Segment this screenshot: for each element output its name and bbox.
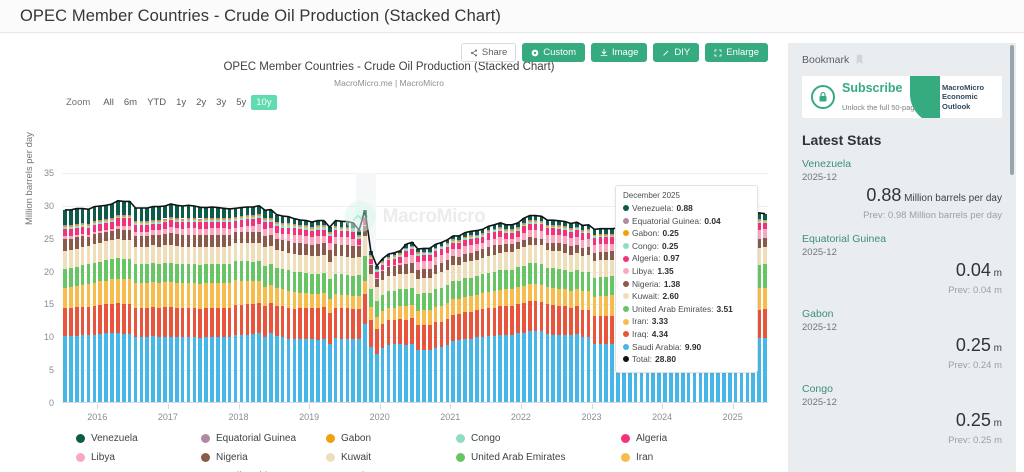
gear-icon <box>531 49 539 57</box>
tooltip-color-dot <box>623 319 629 325</box>
legend-color-dot <box>76 434 85 443</box>
stat-date: 2025-12 <box>802 396 1002 409</box>
legend-item-libya[interactable]: Libya <box>76 452 201 463</box>
legend-item-equatorial-guinea[interactable]: Equatorial Guinea <box>201 433 326 444</box>
x-tick-label: 2022 <box>511 412 531 422</box>
brand-name: MacroMicro Economic Outlook <box>942 83 1002 112</box>
tooltip-color-dot <box>623 293 629 299</box>
latest-stats-list: Venezuela2025-120.88 Million barrels per… <box>802 158 1002 447</box>
stat-unit: m <box>991 343 1002 354</box>
share-button[interactable]: Share <box>461 43 516 62</box>
stat-block: Gabon2025-120.25 mPrev: 0.24 m <box>802 308 1002 372</box>
x-tick-label: 2024 <box>652 412 672 422</box>
tooltip-row: Nigeria:1.38 <box>623 278 750 291</box>
legend-item-iran[interactable]: Iran <box>621 452 711 463</box>
x-tick-mark <box>380 404 381 409</box>
tooltip-series-label: Iraq: <box>632 328 649 341</box>
legend-item-label: Venezuela <box>91 433 138 444</box>
stat-value: 0.25 <box>956 410 991 430</box>
stat-date: 2025-12 <box>802 246 1002 259</box>
legend-item-algeria[interactable]: Algeria <box>621 433 711 444</box>
zoom-option-ytd[interactable]: YTD <box>142 95 171 110</box>
subscribe-banner[interactable]: Subscribe Unlock the full 50-page report… <box>802 76 1002 118</box>
y-tick-label: 35 <box>44 168 54 178</box>
diy-label: DIY <box>674 48 690 58</box>
chart-title: OPEC Member Countries - Crude Oil Produc… <box>0 61 778 73</box>
stat-previous-value: Prev: 0.25 m <box>802 434 1002 447</box>
x-tick-mark <box>662 404 663 409</box>
legend-color-dot <box>456 434 465 443</box>
zoom-option-3y[interactable]: 3y <box>211 95 231 110</box>
enlarge-label: Enlarge <box>726 48 759 58</box>
sidebar-scrollbar-thumb[interactable] <box>1010 45 1014 175</box>
sidebar: Bookmark Subscribe Unlock the full 50-pa… <box>778 33 1024 472</box>
tooltip-series-value: 4.34 <box>652 328 668 341</box>
legend-item-nigeria[interactable]: Nigeria <box>201 452 326 463</box>
bookmark-button[interactable]: Bookmark <box>802 53 1002 66</box>
page-title: OPEC Member Countries - Crude Oil Produc… <box>20 7 501 26</box>
tooltip-series-value: 0.88 <box>676 202 692 215</box>
tooltip-series-label: Libya: <box>632 265 654 278</box>
y-tick-label: 5 <box>49 365 54 375</box>
tooltip-color-dot <box>623 306 629 312</box>
tooltip-row: Iran:3.33 <box>623 315 750 328</box>
legend-item-united-arab-emirates[interactable]: United Arab Emirates <box>456 452 621 463</box>
zoom-option-2y[interactable]: 2y <box>191 95 211 110</box>
tooltip-series-label: Algeria: <box>632 252 660 265</box>
stat-unit: m <box>991 418 1002 429</box>
bookmark-label: Bookmark <box>802 54 849 66</box>
zoom-buttons: All6mYTD1y2y3y5y10y <box>98 97 276 108</box>
tooltip-series-label: Gabon: <box>632 227 659 240</box>
zoom-option-5y[interactable]: 5y <box>231 95 251 110</box>
tooltip-series-value: 1.38 <box>664 278 680 291</box>
x-tick-label: 2017 <box>158 412 178 422</box>
custom-label: Custom <box>543 48 576 58</box>
legend-item-label: Kuwait <box>341 452 371 463</box>
tooltip-color-dot <box>623 344 629 350</box>
legend-item-label: Algeria <box>636 433 667 444</box>
lock-icon <box>811 85 835 109</box>
tooltip-rows: Venezuela:0.88Equatorial Guinea:0.04Gabo… <box>623 202 750 366</box>
stat-value-row: 0.04 m <box>802 260 1002 284</box>
enlarge-icon <box>714 49 722 57</box>
y-tick-label: 15 <box>44 299 54 309</box>
x-tick-mark <box>592 404 593 409</box>
stat-country-name[interactable]: Congo <box>802 383 1002 396</box>
chart-panel: Share Custom Image DIY <box>0 33 778 472</box>
download-icon <box>600 48 608 57</box>
pencil-icon <box>662 49 670 57</box>
tooltip-row: Saudi Arabia:9.90 <box>623 341 750 354</box>
share-icon <box>470 49 478 57</box>
x-axis: 2016201720182019202020212022202320242025 <box>62 404 768 426</box>
tooltip-color-dot <box>623 331 629 337</box>
legend-color-dot <box>326 434 335 443</box>
tooltip-color-dot <box>623 218 629 224</box>
x-tick-label: 2019 <box>299 412 319 422</box>
legend-item-label: Libya <box>91 452 115 463</box>
bookmark-icon[interactable] <box>854 53 865 66</box>
stat-unit: Million barrels per day <box>901 193 1002 204</box>
image-button[interactable]: Image <box>591 43 647 62</box>
tooltip-row: Equatorial Guinea:0.04 <box>623 215 750 228</box>
stat-previous-value: Prev: 0.24 m <box>802 359 1002 372</box>
stat-block: Venezuela2025-120.88 Million barrels per… <box>802 158 1002 222</box>
legend-item-label: Congo <box>471 433 500 444</box>
stat-block: Congo2025-120.25 mPrev: 0.25 m <box>802 383 1002 447</box>
legend-item-label: Nigeria <box>216 452 248 463</box>
legend-color-dot <box>201 434 210 443</box>
tooltip-series-label: United Arab Emirates: <box>632 303 713 316</box>
tooltip-color-dot <box>623 356 629 362</box>
tooltip-series-label: Equatorial Guinea: <box>632 215 701 228</box>
tooltip-row: Gabon:0.25 <box>623 227 750 240</box>
tooltip-series-value: 0.25 <box>662 240 678 253</box>
x-tick-label: 2023 <box>581 412 601 422</box>
tooltip-series-value: 3.33 <box>652 315 668 328</box>
y-tick-label: 30 <box>44 201 54 211</box>
stat-country-name[interactable]: Equatorial Guinea <box>802 233 1002 246</box>
x-axis-baseline <box>62 402 768 403</box>
stat-date: 2025-12 <box>802 321 1002 334</box>
zoom-option-10y[interactable]: 10y <box>251 95 276 110</box>
y-axis-title: Million barrels per day <box>24 132 35 225</box>
tooltip-color-dot <box>623 256 629 262</box>
tooltip-color-dot <box>623 268 629 274</box>
x-tick-mark <box>733 404 734 409</box>
sidebar-scroll-track[interactable] <box>1011 43 1015 472</box>
x-tick-mark <box>521 404 522 409</box>
stat-value-row: 0.25 m <box>802 410 1002 434</box>
x-tick-label: 2021 <box>440 412 460 422</box>
x-tick-mark <box>239 404 240 409</box>
legend-item-label: Equatorial Guinea <box>216 433 296 444</box>
zoom-range-selector: Zoom All6mYTD1y2y3y5y10y <box>66 97 277 108</box>
tooltip-series-value: 0.25 <box>662 227 678 240</box>
stat-value-row: 0.25 m <box>802 335 1002 359</box>
diy-button[interactable]: DIY <box>653 43 699 62</box>
zoom-option-6m[interactable]: 6m <box>119 95 142 110</box>
stat-value: 0.04 <box>956 260 991 280</box>
legend-color-dot <box>326 453 335 462</box>
tooltip-series-label: Saudi Arabia: <box>632 341 682 354</box>
tooltip-row: United Arab Emirates:3.51 <box>623 303 750 316</box>
sidebar-inner: Bookmark Subscribe Unlock the full 50-pa… <box>788 43 1016 472</box>
stat-value: 0.88 <box>866 185 901 205</box>
body-wrapper: Share Custom Image DIY <box>0 33 1024 472</box>
tooltip-color-dot <box>623 281 629 287</box>
chart-toolbar: Share Custom Image DIY <box>461 43 768 62</box>
stat-country-name[interactable]: Gabon <box>802 308 1002 321</box>
tooltip-series-label: Congo: <box>632 240 659 253</box>
custom-button[interactable]: Custom <box>522 43 585 62</box>
legend-item-label: Iran <box>636 452 653 463</box>
tooltip-series-value: 2.60 <box>662 290 678 303</box>
stat-block: Equatorial Guinea2025-120.04 mPrev: 0.04… <box>802 233 1002 297</box>
stat-unit: m <box>991 268 1002 279</box>
y-tick-label: 20 <box>44 267 54 277</box>
tooltip-row: Kuwait:2.60 <box>623 290 750 303</box>
x-tick-mark <box>450 404 451 409</box>
tooltip-row: Congo:0.25 <box>623 240 750 253</box>
chart-subtitle: MacroMicro.me | MacroMicro <box>0 78 778 88</box>
legend-item-gabon[interactable]: Gabon <box>326 433 456 444</box>
legend-color-dot <box>621 453 630 462</box>
tooltip-series-label: Kuwait: <box>632 290 659 303</box>
legend-item-kuwait[interactable]: Kuwait <box>326 452 456 463</box>
stat-date: 2025-12 <box>802 171 1002 184</box>
legend-item-venezuela[interactable]: Venezuela <box>76 433 201 444</box>
y-tick-label: 0 <box>49 398 54 408</box>
legend-item-congo[interactable]: Congo <box>456 433 621 444</box>
x-tick-mark <box>309 404 310 409</box>
tooltip-row: Libya:1.35 <box>623 265 750 278</box>
subscribe-title: Subscribe <box>842 81 902 95</box>
tooltip-series-value: 9.90 <box>685 341 701 354</box>
zoom-label: Zoom <box>66 97 90 108</box>
x-tick-mark <box>97 404 98 409</box>
tooltip-date: December 2025 <box>623 191 750 200</box>
tooltip-series-value: 28.80 <box>655 353 676 366</box>
tooltip-color-dot <box>623 205 629 211</box>
stat-previous-value: Prev: 0.98 Million barrels per day <box>802 209 1002 222</box>
x-tick-label: 2025 <box>723 412 743 422</box>
legend-color-dot <box>621 434 630 443</box>
tooltip-series-value: 0.97 <box>663 252 679 265</box>
x-tick-label: 2016 <box>87 412 107 422</box>
tooltip-series-value: 1.35 <box>657 265 673 278</box>
tooltip-row: Algeria:0.97 <box>623 252 750 265</box>
zoom-option-all[interactable]: All <box>98 95 119 110</box>
chart-legend: VenezuelaEquatorial GuineaGabonCongoAlge… <box>76 433 766 472</box>
legend-item-label: United Arab Emirates <box>471 452 566 463</box>
tooltip-series-label: Total: <box>632 353 652 366</box>
enlarge-button[interactable]: Enlarge <box>705 43 768 62</box>
tooltip-series-value: 3.51 <box>716 303 732 316</box>
legend-color-dot <box>76 453 85 462</box>
stat-value-row: 0.88 Million barrels per day <box>802 185 1002 209</box>
tooltip-series-value: 0.04 <box>704 215 720 228</box>
y-tick-label: 25 <box>44 234 54 244</box>
image-label: Image <box>612 48 638 58</box>
tooltip-color-dot <box>623 230 629 236</box>
legend-item-label: Gabon <box>341 433 371 444</box>
tooltip-row: Venezuela:0.88 <box>623 202 750 215</box>
chart-tooltip: December 2025 Venezuela:0.88Equatorial G… <box>615 185 758 373</box>
x-tick-label: 2020 <box>370 412 390 422</box>
tooltip-series-label: Iran: <box>632 315 649 328</box>
tooltip-series-label: Venezuela: <box>632 202 673 215</box>
tooltip-row: Iraq:4.34 <box>623 328 750 341</box>
tooltip-color-dot <box>623 243 629 249</box>
y-tick-label: 10 <box>44 332 54 342</box>
legend-color-dot <box>456 453 465 462</box>
stat-value: 0.25 <box>956 335 991 355</box>
share-label: Share <box>482 48 507 58</box>
zoom-option-1y[interactable]: 1y <box>171 95 191 110</box>
x-tick-label: 2018 <box>228 412 248 422</box>
x-tick-mark <box>168 404 169 409</box>
stat-country-name[interactable]: Venezuela <box>802 158 1002 171</box>
legend-color-dot <box>201 453 210 462</box>
tooltip-row: Total:28.80 <box>623 353 750 366</box>
stat-previous-value: Prev: 0.04 m <box>802 284 1002 297</box>
tooltip-series-label: Nigeria: <box>632 278 661 291</box>
page-header: OPEC Member Countries - Crude Oil Produc… <box>0 0 1024 33</box>
latest-stats-title: Latest Stats <box>802 132 1002 148</box>
